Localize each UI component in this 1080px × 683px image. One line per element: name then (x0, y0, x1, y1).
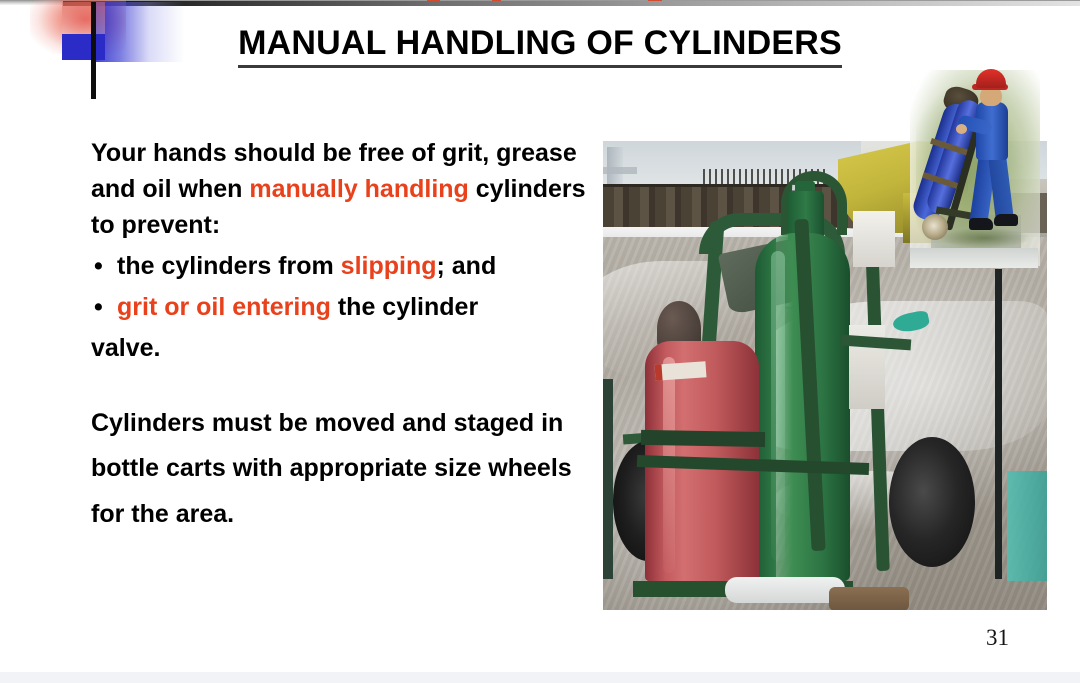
photo-dark-pole (995, 269, 1002, 579)
page-title-text: MANUAL HANDLING OF CYLINDERS (238, 24, 842, 68)
photo-left-pole (603, 379, 613, 579)
clipart-trolley-wheel (922, 214, 948, 240)
bottom-strip (0, 672, 1080, 683)
intro-highlight-manually-handling: manually handling (249, 175, 468, 203)
page-number: 31 (986, 625, 1009, 651)
photo-snow-at-base (725, 577, 845, 603)
bullet-1-highlight-slipping: slipping (341, 252, 437, 280)
green-cylinder-highlight (771, 251, 785, 561)
clipart-ground-shadow (940, 228, 1030, 248)
bullet-marker-icon: • (94, 287, 103, 328)
paragraph-intro: Your hands should be free of grit, greas… (91, 136, 591, 243)
bullet-continuation-text: valve. (91, 328, 591, 369)
list-item: •grit or oil entering the cylinder (91, 287, 591, 328)
cart-retaining-strap (641, 430, 765, 447)
clipart-worker-boot-rear (969, 218, 993, 230)
list-item: •the cylinders from slipping; and (91, 246, 591, 287)
bullet-list: •the cylinders from slipping; and •grit … (91, 246, 591, 328)
bullet-1-text-part-1: the cylinders from (117, 252, 341, 280)
photo-teal-panel (1007, 471, 1047, 581)
clipart-worker-hand (956, 124, 967, 134)
photo-tower-crossarm (603, 167, 637, 174)
horizontal-rule (63, 1, 1080, 6)
page-title: MANUAL HANDLING OF CYLINDERS (90, 26, 990, 60)
cart-wheel-right (889, 437, 975, 567)
clipart-worker-boot-front (994, 214, 1018, 226)
photo-white-object-upper (853, 211, 895, 267)
slide-body: Your hands should be free of grit, greas… (91, 136, 591, 538)
paragraph-carts: Cylinders must be moved and staged in bo… (91, 401, 591, 538)
bullet-1-text-part-2: ; and (437, 252, 497, 280)
bullet-2-highlight-grit-or-oil: grit or oil entering (117, 293, 331, 321)
worker-with-trolley-clipart (900, 62, 1047, 274)
bullet-marker-icon: • (94, 246, 103, 287)
photo-timber-at-base (829, 587, 909, 610)
clipart-base-strip (910, 248, 1038, 268)
bullet-2-text-part-1: the cylinder (331, 293, 478, 321)
slide-canvas: MANUAL HANDLING OF CYLINDERS Your hands … (0, 0, 1080, 683)
